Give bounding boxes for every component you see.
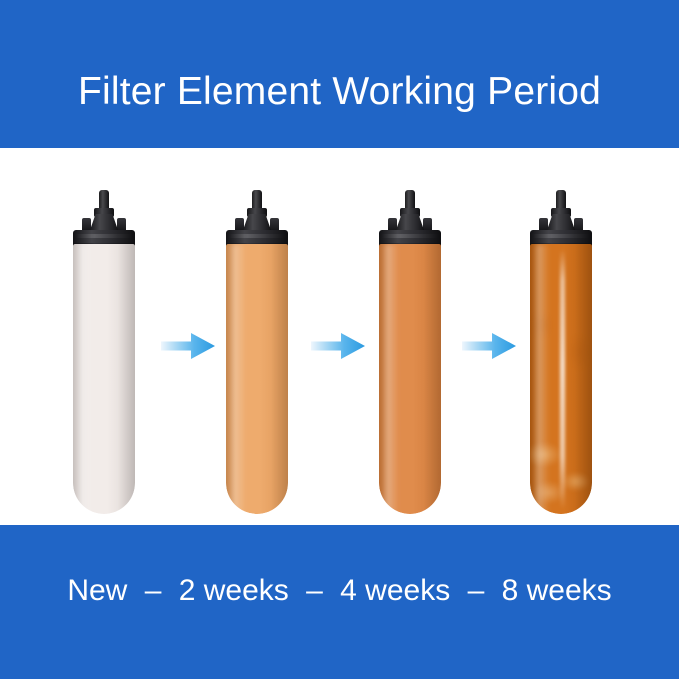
timeline-separator: – xyxy=(297,576,332,606)
filter-cartridge-8-weeks xyxy=(529,190,593,518)
timeline-separator: – xyxy=(136,576,171,606)
filter-cap-icon xyxy=(529,190,593,248)
filter-body xyxy=(530,244,592,514)
filter-body xyxy=(379,244,441,514)
timeline-label-8-weeks: 8 weeks xyxy=(502,574,612,607)
filter-body-edge-shading xyxy=(73,244,135,514)
header-band: Filter Element Working Period xyxy=(0,0,679,148)
filter-cap-icon xyxy=(225,190,289,248)
filter-body xyxy=(73,244,135,514)
footer-band: New – 2 weeks – 4 weeks – 8 weeks xyxy=(0,525,679,679)
filter-cartridge-new xyxy=(72,190,136,518)
filter-cap-icon xyxy=(378,190,442,248)
filter-body xyxy=(226,244,288,514)
product-infographic: Filter Element Working Period xyxy=(0,0,679,679)
filter-cartridge-2-weeks xyxy=(225,190,289,518)
filter-body-edge-shading xyxy=(379,244,441,514)
timeline-label-new: New xyxy=(67,574,127,607)
filters-stage xyxy=(0,148,679,525)
timeline-label-4-weeks: 4 weeks xyxy=(340,574,450,607)
arrow-right-icon xyxy=(161,332,215,360)
timeline-caption: New – 2 weeks – 4 weeks – 8 weeks xyxy=(67,576,611,606)
page-title: Filter Element Working Period xyxy=(78,72,601,111)
filter-cartridge-4-weeks xyxy=(378,190,442,518)
filter-body-edge-shading xyxy=(226,244,288,514)
filter-body-edge-shading xyxy=(530,244,592,514)
arrow-right-icon xyxy=(311,332,365,360)
timeline-separator: – xyxy=(459,576,494,606)
filter-cap-icon xyxy=(72,190,136,248)
arrow-right-icon xyxy=(462,332,516,360)
timeline-label-2-weeks: 2 weeks xyxy=(179,574,289,607)
